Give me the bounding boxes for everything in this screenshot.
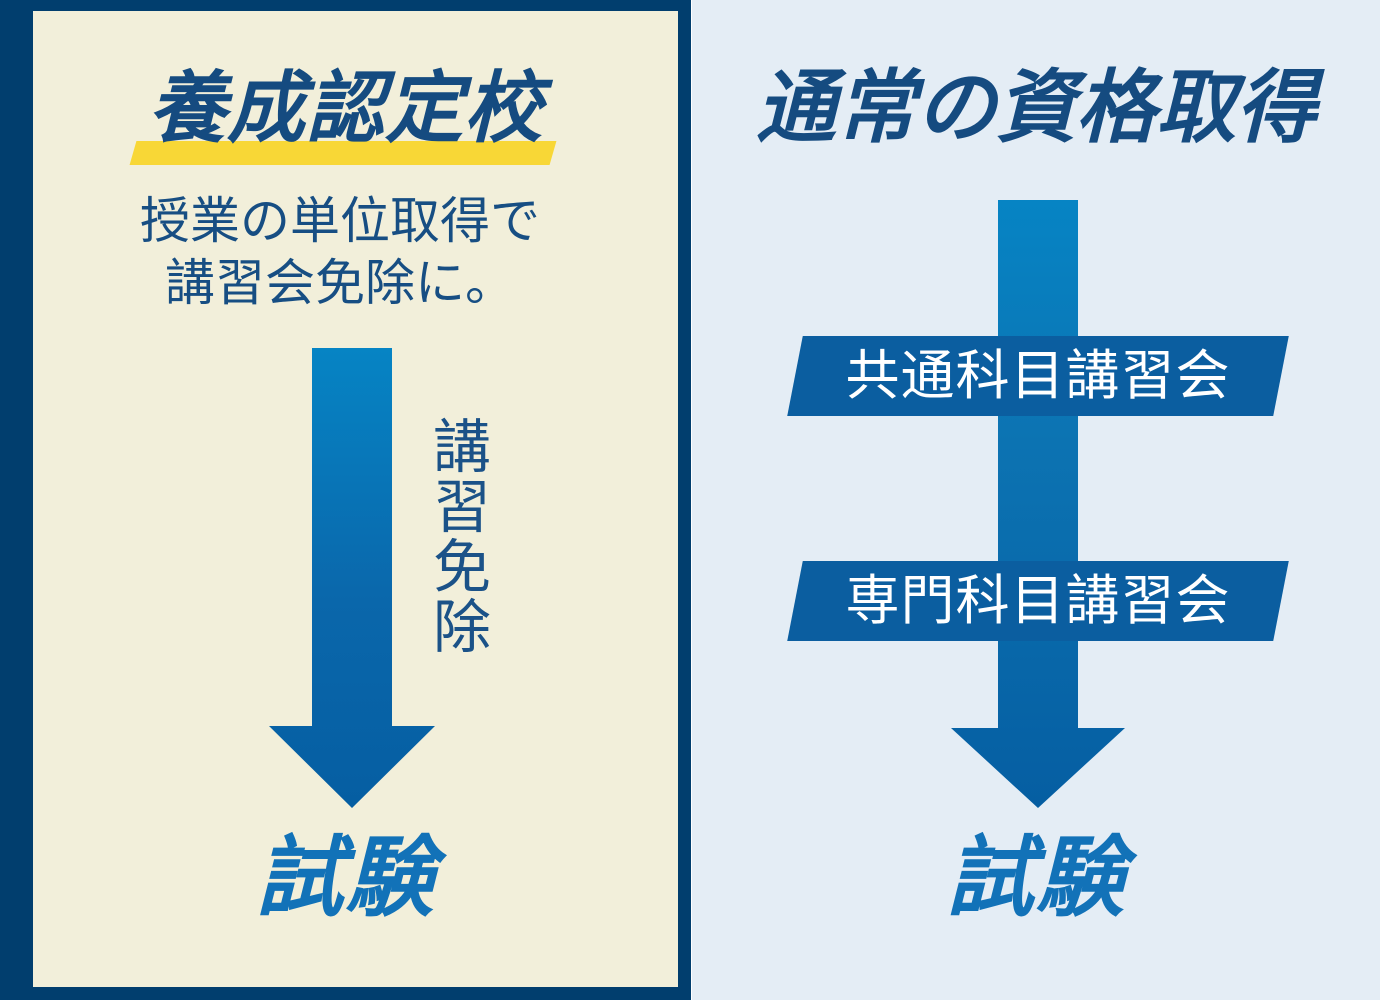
step-banner-1-label: 共通科目講習会 [795, 336, 1281, 416]
comparison-diagram: 養成認定校 授業の単位取得で 講習会免除に。 講習免除 試験 通常の資格取得 [0, 0, 1380, 1000]
step-banner-2-label: 専門科目講習会 [795, 561, 1281, 641]
left-panel-subtitle-line1: 授業の単位取得で [0, 190, 680, 252]
left-panel-title-block: 養成認定校 [0, 56, 691, 166]
left-panel-result: 試験 [0, 818, 691, 938]
right-down-arrow-icon [948, 200, 1128, 812]
left-panel-subtitle: 授業の単位取得で 講習会免除に。 [0, 190, 680, 314]
right-panel-title: 通常の資格取得 [692, 56, 1380, 160]
left-arrow-vertical-label: 講習免除 [424, 416, 488, 656]
left-panel-title: 養成認定校 [0, 56, 691, 160]
left-down-arrow-icon [255, 348, 445, 813]
left-panel-subtitle-line2: 講習会免除に。 [0, 252, 680, 314]
right-panel-result: 試験 [692, 818, 1380, 938]
